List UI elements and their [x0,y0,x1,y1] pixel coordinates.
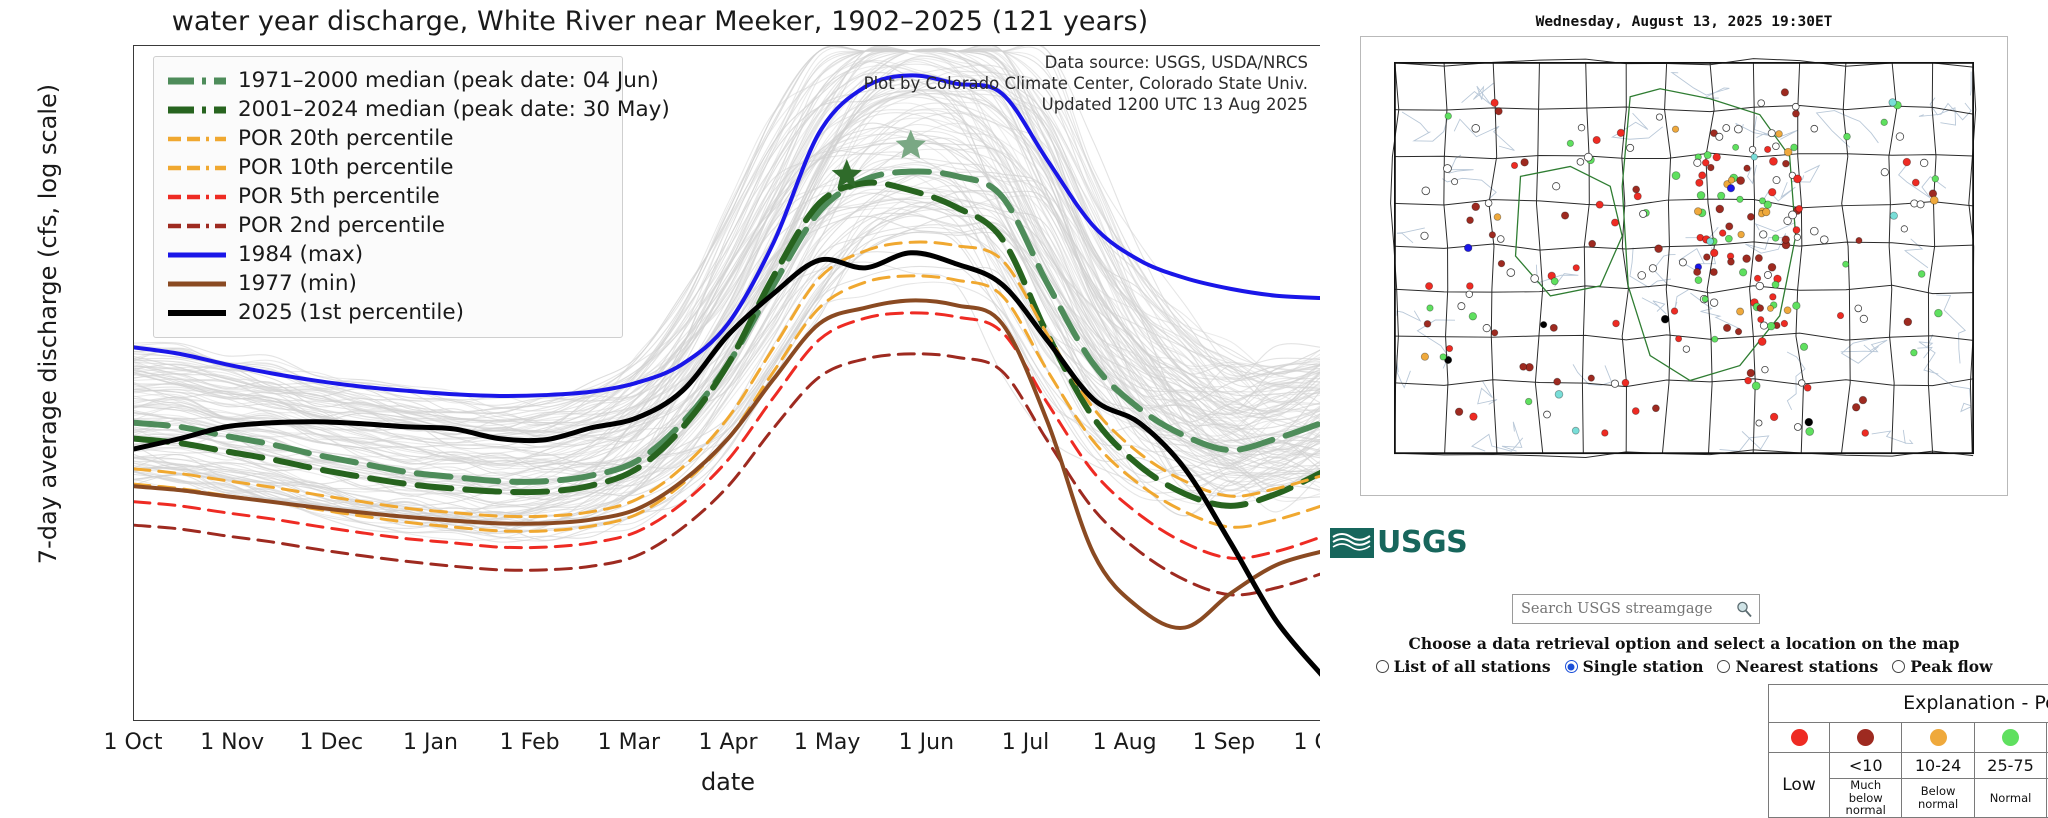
streamgage-dot[interactable] [1467,217,1474,224]
streamgage-dot[interactable] [1723,324,1730,331]
streamgage-dot[interactable] [1712,336,1718,342]
streamgage-dot[interactable] [1837,312,1843,318]
streamgage-dot[interactable] [1726,223,1733,230]
magnifier-icon[interactable] [1735,600,1753,618]
x-tick-label: 1 Sep [1193,730,1255,755]
legend-label: POR 10th percentile [238,155,453,180]
streamgage-dot[interactable] [1890,212,1897,219]
streamgage-dot[interactable] [1455,408,1463,416]
streamgage-dot[interactable] [1716,205,1724,213]
streamgage-dot[interactable] [1764,146,1770,152]
streamgage-dot[interactable] [1733,144,1739,150]
streamgage-dot[interactable] [1728,177,1734,183]
radio-icon-selected[interactable] [1565,660,1578,673]
streamgage-dot[interactable] [1458,303,1465,310]
radio-icon[interactable] [1717,660,1730,673]
retrieval-instruction: Choose a data retrieval option and selec… [1320,634,2048,653]
streamgage-dot[interactable] [1699,172,1706,179]
usgs-wave-icon [1330,528,1374,558]
streamgage-dot[interactable] [1759,198,1765,204]
explanation-col-low: Low [1769,723,1830,817]
source-line: Plot by Colorado Climate Center, Colorad… [864,73,1308,94]
streamgage-dot[interactable] [1676,336,1682,342]
streamgage-dot[interactable] [1930,196,1938,204]
streamgage-dot[interactable] [1918,271,1925,278]
streamgage-dot[interactable] [1768,130,1775,137]
streamgage-dot[interactable] [1737,177,1745,185]
desc-label: Below normal [1902,779,1973,817]
streamgage-dot[interactable] [1903,158,1911,166]
streamgage-dot[interactable] [1544,411,1551,418]
streamgage-dot[interactable] [1747,213,1754,220]
streamgage-dot[interactable] [1762,208,1770,216]
streamgage-dot[interactable] [1671,308,1678,315]
streamgage-dot[interactable] [1737,308,1744,315]
explanation-col-much-below: <10 Much below normal [1830,723,1902,817]
usgs-wordmark: USGS [1377,528,1467,558]
streamgage-dot[interactable] [1466,291,1473,298]
streamgage-dot[interactable] [1551,278,1558,285]
streamgage-dot[interactable] [1672,126,1678,132]
streamgage-dot[interactable] [1889,99,1897,107]
streamgage-dot[interactable] [1710,268,1717,275]
streamgage-dot[interactable] [1707,238,1714,245]
x-tick-label: 1 Jan [403,730,458,755]
option-single-station[interactable]: Single station [1565,657,1704,676]
legend-swatch-p10 [166,159,228,177]
explanation-columns: Low <10 Much below normal 10-24 Below no… [1769,723,2048,817]
streamgage-search[interactable] [1512,594,1760,624]
y-axis-label: 7-day average discharge (cfs, log scale) [34,14,62,634]
option-label: Nearest stations [1735,657,1878,676]
streamgage-dot[interactable] [1862,430,1869,437]
legend-item: POR 20th percentile [166,124,610,153]
streamgage-dot[interactable] [1811,125,1818,132]
streamgage-dot[interactable] [1781,89,1788,96]
streamgage-dot[interactable] [1768,263,1776,271]
streamgage-dot[interactable] [1649,265,1656,272]
streamgage-dot[interactable] [1794,175,1802,183]
streamgage-dot[interactable] [1584,153,1592,161]
streamgage-dot[interactable] [1772,281,1779,288]
percentile-dot-normal [2002,729,2019,746]
streamgage-dot[interactable] [1611,380,1618,387]
x-tick-label: 1 Jun [899,730,954,755]
streamgage-dot[interactable] [1734,125,1742,133]
legend-swatch-p2 [166,217,228,235]
streamgage-dot[interactable] [1656,114,1662,120]
desc-label: Normal [1975,779,2046,817]
streamgage-dot[interactable] [1806,427,1814,435]
streamgage-dot[interactable] [1540,321,1546,327]
streamgage-dot[interactable] [1843,261,1849,267]
streamgage-dot[interactable] [1640,210,1647,217]
streamgage-dot[interactable] [1655,245,1663,253]
plot-area: 1971–2000 median (peak date: 04 Jun) 200… [133,45,1323,721]
streamgage-dot[interactable] [1469,312,1477,320]
legend-swatch-p20 [166,130,228,148]
source-line: Updated 1200 UTC 13 Aug 2025 [864,94,1308,115]
legend-swatch-2025 [166,304,228,322]
streamgage-dot[interactable] [1716,133,1723,140]
streamgage-dot[interactable] [1710,249,1718,257]
streamgage-dot[interactable] [1743,255,1751,263]
legend-label: 2025 (1st percentile) [238,300,464,325]
streamgage-dot[interactable] [1483,324,1490,331]
x-tick-label: 1 May [794,730,860,755]
streamgage-dot[interactable] [1596,201,1603,208]
streamgage-dot[interactable] [1489,232,1495,238]
streamgage-dot[interactable] [1553,183,1560,190]
streamgage-dot[interactable] [1421,232,1428,239]
legend-label: POR 5th percentile [238,184,440,209]
streamgage-dot[interactable] [1634,193,1641,200]
streamgage-dot[interactable] [1881,119,1888,126]
option-list-of-all-stations[interactable]: List of all stations [1376,657,1551,676]
streamgage-dot[interactable] [1719,230,1726,237]
legend-item: 1984 (max) [166,240,610,269]
legend-item: 2001–2024 median (peak date: 30 May) [166,95,610,124]
streamgage-dot[interactable] [1751,154,1757,160]
streamgage-dot[interactable] [1440,354,1446,360]
streamgage-dot[interactable] [1633,186,1640,193]
streamgage-dot[interactable] [1794,234,1800,240]
streamgage-dot[interactable] [1561,212,1568,219]
streamgage-dot[interactable] [1652,405,1659,412]
streamgage-dot[interactable] [1683,346,1690,353]
streamgage-dot[interactable] [1844,133,1851,140]
streamgage-dot[interactable] [1632,408,1639,415]
streamgage-dot[interactable] [1498,260,1505,267]
streamgage-dot[interactable] [1421,353,1428,360]
streamgage-dot[interactable] [1767,322,1775,330]
streamgage-dot[interactable] [1446,345,1452,351]
screenshot-root: water year discharge, White River near M… [0,0,2048,818]
streamgage-dot[interactable] [1758,338,1766,346]
range-label: 10-24 [1902,753,1973,779]
option-label: List of all stations [1394,657,1551,676]
streamgage-dot[interactable] [1702,159,1709,166]
streamgage-dot[interactable] [1881,169,1888,176]
streamgage-dot[interactable] [1695,277,1702,284]
streamgage-dot[interactable] [1672,172,1680,180]
percentile-explanation-table: Explanation - Percentile classes Low <10… [1768,684,2048,818]
x-axis-label: date [133,768,1323,796]
streamgage-dot[interactable] [1758,316,1764,322]
percentile-dot-below [1930,729,1947,746]
streamgage-dot[interactable] [1717,192,1724,199]
x-tick-label: 1 Oct [103,730,162,755]
usgs-map-panel: Wednesday, August 13, 2025 19:30ET [1320,0,2048,818]
streamgage-dot[interactable] [1757,305,1764,312]
streamgage-dot[interactable] [1679,259,1686,266]
streamgage-dot[interactable] [1773,143,1780,150]
streamgage-dot[interactable] [1550,324,1557,331]
legend-item: 1971–2000 median (peak date: 04 Jun) [166,66,610,95]
radio-icon[interactable] [1892,660,1905,673]
streamgage-dot[interactable] [1627,144,1634,151]
streamgage-dot[interactable] [1520,363,1527,370]
explanation-title: Explanation - Percentile classes [1769,685,2048,723]
range-label: <10 [1830,753,1901,779]
streamgage-dot[interactable] [1901,226,1907,232]
dot-cell [1769,723,1829,753]
x-tick-label: 1 Aug [1093,730,1157,755]
streamgage-dot[interactable] [1472,124,1480,132]
legend-label: 1977 (min) [238,271,357,296]
legend-swatch-1984 [166,246,228,264]
streamgage-dot[interactable] [1791,144,1798,151]
streamgage-dot[interactable] [1613,320,1620,327]
explanation-col-below: 10-24 Below normal [1902,723,1974,817]
streamgage-dot[interactable] [1735,328,1741,334]
streamgage-dot[interactable] [1495,108,1502,115]
legend-label: 1971–2000 median (peak date: 04 Jun) [238,68,659,93]
map-timestamp: Wednesday, August 13, 2025 19:30ET [1320,14,2048,30]
streamgage-dot[interactable] [1694,159,1701,166]
streamgage-dot[interactable] [1572,427,1579,434]
map-svg[interactable] [1361,37,2007,495]
streamgage-dot[interactable] [1756,282,1764,290]
legend-label: 1984 (max) [238,242,363,267]
colorado-streamgage-map[interactable] [1360,36,2008,496]
streamgage-dot[interactable] [1452,179,1458,185]
streamgage-dot[interactable] [1782,160,1789,167]
streamgage-dot[interactable] [1588,375,1594,381]
streamgage-dot[interactable] [1904,318,1912,326]
streamgage-dot[interactable] [1573,265,1579,271]
streamgage-dot[interactable] [1589,240,1596,247]
option-nearest-stations[interactable]: Nearest stations [1717,657,1878,676]
streamgage-dot[interactable] [1767,305,1773,311]
streamgage-dot[interactable] [1798,380,1805,387]
radio-icon[interactable] [1376,660,1389,673]
streamgage-dot[interactable] [1497,236,1504,243]
streamgage-dot[interactable] [1860,315,1867,322]
usgs-logo: USGS [1330,528,1467,558]
streamgage-dot[interactable] [1754,275,1760,281]
streamgage-dot[interactable] [1426,283,1433,290]
streamgage-dot[interactable] [1554,378,1561,385]
x-tick-label: 1 Jul [1002,730,1050,755]
streamgage-dot[interactable] [1760,231,1767,238]
streamgage-dot[interactable] [1661,315,1669,323]
streamgage-dot[interactable] [1755,255,1762,262]
streamgage-dot[interactable] [1723,125,1730,132]
streamgage-dot[interactable] [1749,146,1756,153]
x-tick-label: 1 Dec [300,730,364,755]
streamgage-dot[interactable] [1752,382,1760,390]
retrieval-options: List of all stations Single station Near… [1320,657,2048,676]
streamgage-dot[interactable] [1464,244,1472,252]
streamgage-dot[interactable] [1511,162,1517,168]
streamgage-dot[interactable] [1744,165,1750,171]
x-tick-label: 1 Feb [500,730,560,755]
streamgage-dot[interactable] [1800,343,1807,350]
streamgage-dot[interactable] [1739,269,1746,276]
streamgage-dot[interactable] [1485,200,1492,207]
legend-item: POR 5th percentile [166,182,610,211]
legend-label: POR 20th percentile [238,126,453,151]
streamgage-dot[interactable] [1697,192,1705,200]
streamgage-dot[interactable] [1758,100,1765,107]
streamgage-dot[interactable] [1602,430,1609,437]
streamgage-dot[interactable] [1745,377,1752,384]
streamgage-dot[interactable] [1567,140,1573,146]
chart-title: water year discharge, White River near M… [0,6,1320,37]
x-tick-label: 1 Mar [598,730,661,755]
streamgage-dot[interactable] [1472,203,1480,211]
streamgage-dot[interactable] [1617,129,1624,136]
chart-legend: 1971–2000 median (peak date: 04 Jun) 200… [153,56,623,338]
streamgage-dot[interactable] [1762,366,1769,373]
legend-item: POR 2nd percentile [166,211,610,240]
explanation-col-normal: 25-75 Normal [1975,723,2047,817]
streamgage-dot[interactable] [1770,294,1777,301]
dot-cell [1975,723,2046,753]
streamgage-dot[interactable] [1713,153,1721,161]
legend-swatch-1977 [166,275,228,293]
streamgage-dot[interactable] [1756,420,1762,426]
streamgage-dot[interactable] [1792,110,1799,117]
option-label: Single station [1583,657,1704,676]
streamgage-dot[interactable] [1622,379,1629,386]
streamgage-dot[interactable] [1638,271,1646,279]
legend-label: 2001–2024 median (peak date: 30 May) [238,97,670,122]
streamgage-dot[interactable] [1912,179,1919,186]
streamgage-dot[interactable] [1768,188,1776,196]
streamgage-dot[interactable] [1694,268,1701,275]
streamgage-dot[interactable] [1776,130,1783,137]
streamgage-dot[interactable] [1555,390,1563,398]
streamgage-dot[interactable] [1896,133,1904,141]
streamgage-dot[interactable] [1704,152,1711,159]
range-label: 25-75 [1975,753,2046,779]
streamgage-dot[interactable] [1702,296,1708,302]
streamgage-dot[interactable] [1727,185,1734,192]
streamgage-dot[interactable] [1793,227,1800,234]
streamgage-dot[interactable] [1470,413,1478,421]
streamgage-dot[interactable] [1710,299,1718,307]
streamgage-dot[interactable] [1782,236,1790,244]
streamgage-dot[interactable] [1577,158,1584,165]
streamgage-dot[interactable] [1781,320,1788,327]
streamgage-dot[interactable] [1696,179,1703,186]
streamgage-dot[interactable] [1525,398,1532,405]
streamgage-dot[interactable] [1794,424,1801,431]
legend-swatch-p5 [166,188,228,206]
legend-swatch-median-2001 [166,101,228,119]
streamgage-dot[interactable] [1804,384,1811,391]
streamgage-dot[interactable] [1507,269,1515,277]
x-tick-label: 1 Apr [698,730,757,755]
streamgage-dot[interactable] [1859,396,1867,404]
streamgage-dot[interactable] [1747,369,1755,377]
streamgage-dot[interactable] [1445,113,1452,120]
percentile-dot-much-below [1857,729,1874,746]
streamgage-dot[interactable] [1792,103,1799,110]
legend-item: 2025 (1st percentile) [166,298,610,327]
streamgage-dot[interactable] [1820,236,1828,244]
legend-item: 1977 (min) [166,269,610,298]
streamgage-dot[interactable] [1611,219,1618,226]
source-line: Data source: USGS, USDA/NRCS [864,52,1308,73]
streamgage-dot[interactable] [1917,201,1924,208]
streamgage-dot[interactable] [1911,349,1918,356]
streamgage-dot[interactable] [1494,214,1501,221]
streamgage-dot[interactable] [1773,176,1780,183]
streamgage-dot[interactable] [1769,157,1777,165]
streamgage-dot[interactable] [1932,175,1939,182]
streamgage-dot[interactable] [1789,211,1797,219]
discharge-chart-panel: water year discharge, White River near M… [0,0,1320,818]
streamgage-dot[interactable] [1920,159,1928,167]
desc-label: Much below normal [1830,779,1901,817]
dot-cell [1902,723,1973,753]
streamgage-dot[interactable] [1694,208,1701,215]
streamgage-dot[interactable] [1491,99,1498,106]
streamgage-dot[interactable] [1531,275,1539,283]
legend-label: POR 2nd percentile [238,213,445,238]
streamgage-dot[interactable] [1810,227,1818,235]
streamgage-dot[interactable] [1424,320,1431,327]
x-tick-label: 1 Nov [200,730,264,755]
streamgage-dot[interactable] [1738,231,1745,238]
streamgage-dot[interactable] [1784,307,1791,314]
streamgage-dot[interactable] [1578,124,1585,131]
streamgage-dot[interactable] [1491,330,1497,336]
option-label: Peak flow [1910,657,1992,676]
streamgage-dot[interactable] [1427,305,1433,311]
streamgage-dot[interactable] [1725,235,1732,242]
streamgage-dot[interactable] [1443,165,1451,173]
source-annotation: Data source: USGS, USDA/NRCS Plot by Col… [864,52,1308,115]
streamgage-dot[interactable] [1852,403,1860,411]
low-label: Low [1769,753,1829,816]
streamgage-dot[interactable] [1793,302,1801,310]
streamgage-dot[interactable] [1593,136,1600,143]
streamgage-dot[interactable] [1772,235,1779,242]
legend-item: POR 10th percentile [166,153,610,182]
streamgage-dot[interactable] [1770,413,1778,421]
dot-cell [1830,723,1901,753]
streamgage-dot[interactable] [1805,418,1813,426]
streamgage-dot[interactable] [1935,309,1943,317]
percentile-dot-low [1791,729,1808,746]
streamgage-dot[interactable] [1856,237,1862,243]
streamgage-dot[interactable] [1764,271,1771,278]
search-input[interactable] [1519,600,1735,618]
streamgage-dot[interactable] [1855,305,1862,312]
streamgage-dot[interactable] [1704,254,1711,261]
legend-swatch-median-1971 [166,72,228,90]
streamgage-dot[interactable] [1737,196,1743,202]
streamgage-dot[interactable] [1796,205,1803,212]
option-peak-flow[interactable]: Peak flow [1892,657,1992,676]
streamgage-dot[interactable] [1422,187,1430,195]
streamgage-dot[interactable] [1728,258,1735,265]
streamgage-dot[interactable] [1466,283,1473,290]
streamgage-dot[interactable] [1521,159,1529,167]
